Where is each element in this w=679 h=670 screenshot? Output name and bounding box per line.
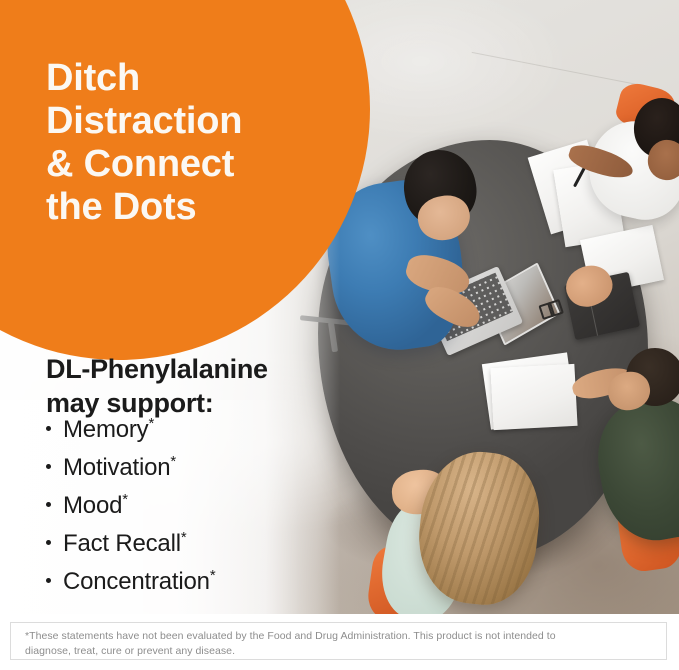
bullet-dot-icon	[46, 426, 51, 431]
benefit-label: Mood*	[63, 492, 128, 520]
benefit-label: Motivation*	[63, 454, 176, 482]
benefit-asterisk: *	[181, 530, 187, 546]
benefit-asterisk: *	[170, 454, 176, 470]
list-item: Motivation*	[46, 454, 346, 492]
subhead: DL-Phenylalanine may support:	[46, 352, 366, 420]
bullet-dot-icon	[46, 540, 51, 545]
headline-line-3: & Connect	[46, 143, 346, 186]
bullet-dot-icon	[46, 464, 51, 469]
list-item: Fact Recall*	[46, 530, 346, 568]
list-item: Mood*	[46, 492, 346, 530]
disclaimer-line-1: *These statements have not been evaluate…	[25, 629, 652, 644]
benefit-asterisk: *	[122, 492, 128, 508]
benefit-label: Concentration*	[63, 568, 215, 596]
subhead-line-1: DL-Phenylalanine	[46, 352, 366, 386]
bullet-dot-icon	[46, 502, 51, 507]
benefits-list: Memory* Motivation* Mood* Fact Recall* C…	[46, 416, 346, 606]
headline-line-4: the Dots	[46, 186, 346, 229]
benefit-label: Fact Recall*	[63, 530, 186, 558]
paper-sheet	[490, 364, 577, 430]
fda-disclaimer: *These statements have not been evaluate…	[10, 622, 667, 660]
product-infographic-poster: Ditch Distraction & Connect the Dots DL-…	[0, 0, 679, 670]
benefit-asterisk: *	[148, 416, 154, 432]
page-title: Ditch Distraction & Connect the Dots	[46, 57, 346, 229]
headline-line-1: Ditch	[46, 57, 346, 100]
list-item: Memory*	[46, 416, 346, 454]
disclaimer-line-2: diagnose, treat, cure or prevent any dis…	[25, 644, 652, 659]
list-item: Concentration*	[46, 568, 346, 606]
bullet-dot-icon	[46, 578, 51, 583]
headline-line-2: Distraction	[46, 100, 346, 143]
benefit-asterisk: *	[210, 568, 216, 584]
benefit-label: Memory*	[63, 416, 154, 444]
